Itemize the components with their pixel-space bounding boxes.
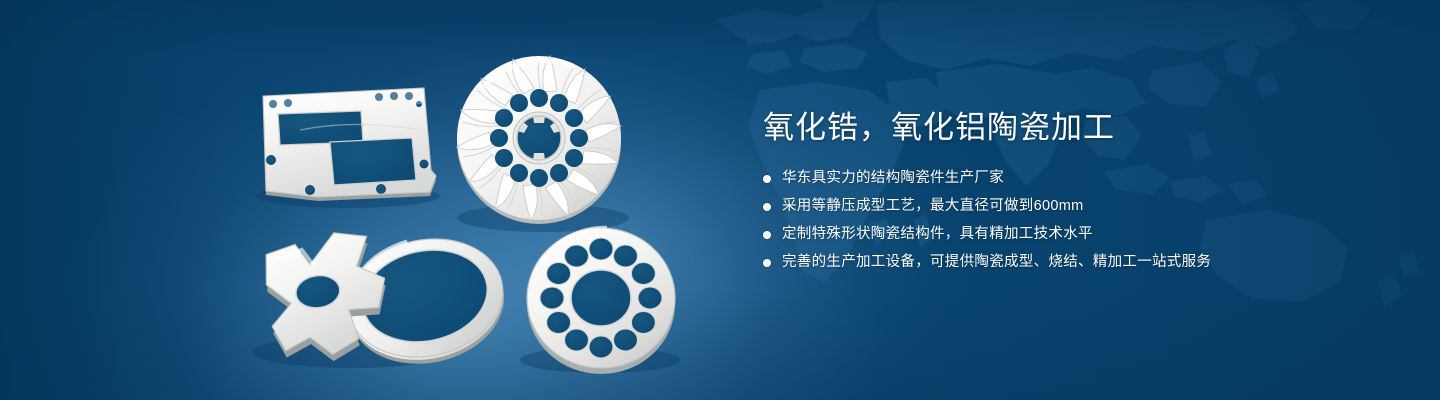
list-item-label: 采用等静压成型工艺，最大直径可做到600mm	[782, 194, 1083, 219]
list-item: 定制特殊形状陶瓷结构件，具有精加工技术水平	[763, 222, 1363, 247]
bullet-dot-icon	[763, 231, 771, 239]
list-item: 完善的生产加工设备，可提供陶瓷成型、烧结、精加工一站式服务	[763, 250, 1363, 275]
banner-text-column: 氧化锆，氧化铝陶瓷加工 华东具实力的结构陶瓷件生产厂家 采用等静压成型工艺，最大…	[763, 108, 1363, 278]
list-item: 采用等静压成型工艺，最大直径可做到600mm	[763, 194, 1363, 219]
bullet-dot-icon	[763, 175, 771, 183]
banner-feature-list: 华东具实力的结构陶瓷件生产厂家 采用等静压成型工艺，最大直径可做到600mm 定…	[763, 166, 1363, 275]
list-item: 华东具实力的结构陶瓷件生产厂家	[763, 166, 1363, 191]
bullet-dot-icon	[763, 203, 771, 211]
list-item-label: 定制特殊形状陶瓷结构件，具有精加工技术水平	[782, 222, 1093, 247]
list-item-label: 完善的生产加工设备，可提供陶瓷成型、烧结、精加工一站式服务	[782, 250, 1211, 275]
hero-banner: 氧化锆，氧化铝陶瓷加工 华东具实力的结构陶瓷件生产厂家 采用等静压成型工艺，最大…	[0, 0, 1440, 400]
banner-headline: 氧化锆，氧化铝陶瓷加工	[763, 108, 1363, 148]
list-item-label: 华东具实力的结构陶瓷件生产厂家	[782, 166, 1004, 191]
bullet-dot-icon	[763, 259, 771, 267]
